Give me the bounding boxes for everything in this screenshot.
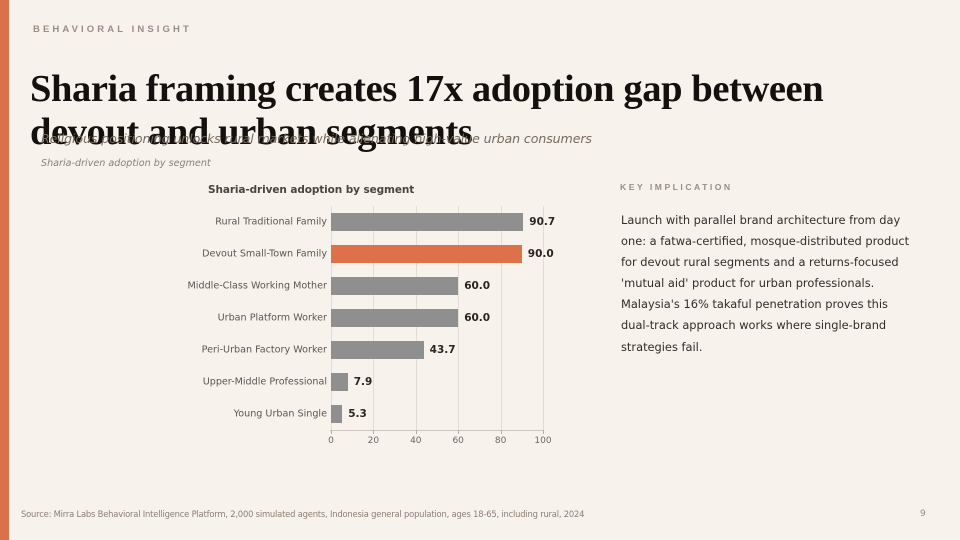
x-axis-tick-label: 80 — [495, 436, 506, 446]
x-axis-tick — [373, 430, 374, 434]
chart-bar-value: 43.7 — [430, 344, 456, 356]
x-axis-tick-label: 20 — [368, 436, 379, 446]
chart-gridline — [543, 206, 544, 430]
slide-canvas: BEHAVIORAL INSIGHT Sharia framing create… — [0, 0, 960, 540]
chart-bar-row: Middle-Class Working Mother60.0 — [331, 270, 543, 302]
x-axis-tick-label: 60 — [452, 436, 463, 446]
chart-category-label: Rural Traditional Family — [215, 217, 327, 228]
x-axis-line — [330, 430, 544, 431]
page-number: 9 — [920, 509, 926, 519]
chart-category-label: Peri-Urban Factory Worker — [202, 345, 327, 356]
x-axis-tick — [416, 430, 417, 434]
chart-category-label: Urban Platform Worker — [218, 313, 327, 324]
chart-bar-value: 60.0 — [464, 280, 490, 292]
x-axis-tick — [543, 430, 544, 434]
chart-bar: 60.0 — [331, 309, 458, 327]
chart-bar-value: 7.9 — [354, 376, 373, 388]
chart-bar-value: 90.7 — [529, 216, 555, 228]
x-axis-tick-label: 40 — [410, 436, 421, 446]
bar-chart: Sharia-driven adoption by segment 020406… — [170, 178, 570, 453]
subtitle: Religious positioning unlocks rural mark… — [41, 131, 592, 146]
implication-kicker: KEY IMPLICATION — [620, 182, 733, 192]
chart-bar-row: Upper-Middle Professional7.9 — [331, 366, 543, 398]
source-note: Source: Mirra Labs Behavioral Intelligen… — [21, 509, 584, 519]
x-axis-tick — [331, 430, 332, 434]
chart-bar-row: Urban Platform Worker60.0 — [331, 302, 543, 334]
chart-plot-area: 020406080100Rural Traditional Family90.7… — [331, 206, 543, 430]
chart-bar: 90.0 — [331, 245, 522, 263]
x-axis-tick-label: 100 — [534, 436, 551, 446]
x-axis-tick — [458, 430, 459, 434]
chart-bar: 5.3 — [331, 405, 342, 423]
eyebrow-label: BEHAVIORAL INSIGHT — [33, 24, 192, 35]
chart-bar-row: Young Urban Single5.3 — [331, 398, 543, 430]
chart-bar-row: Rural Traditional Family90.7 — [331, 206, 543, 238]
chart-bar: 90.7 — [331, 213, 523, 231]
chart-bar-value: 5.3 — [348, 408, 367, 420]
chart-category-label: Young Urban Single — [234, 409, 327, 420]
chart-title: Sharia-driven adoption by segment — [208, 184, 414, 196]
x-axis-tick — [501, 430, 502, 434]
chart-bar-row: Devout Small-Town Family90.0 — [331, 238, 543, 270]
chart-bar: 60.0 — [331, 277, 458, 295]
chart-bar-row: Peri-Urban Factory Worker43.7 — [331, 334, 543, 366]
chart-bar-value: 90.0 — [528, 248, 554, 260]
chart-bar-value: 60.0 — [464, 312, 490, 324]
chart-category-label: Devout Small-Town Family — [202, 249, 327, 260]
x-axis-tick-label: 0 — [328, 436, 334, 446]
implication-body: Launch with parallel brand architecture … — [621, 210, 911, 358]
chart-bar: 43.7 — [331, 341, 424, 359]
chart-category-label: Upper-Middle Professional — [203, 377, 327, 388]
chart-caption: Sharia-driven adoption by segment — [41, 158, 211, 169]
chart-category-label: Middle-Class Working Mother — [188, 281, 327, 292]
chart-bar: 7.9 — [331, 373, 348, 391]
left-accent-bar — [0, 0, 9, 540]
